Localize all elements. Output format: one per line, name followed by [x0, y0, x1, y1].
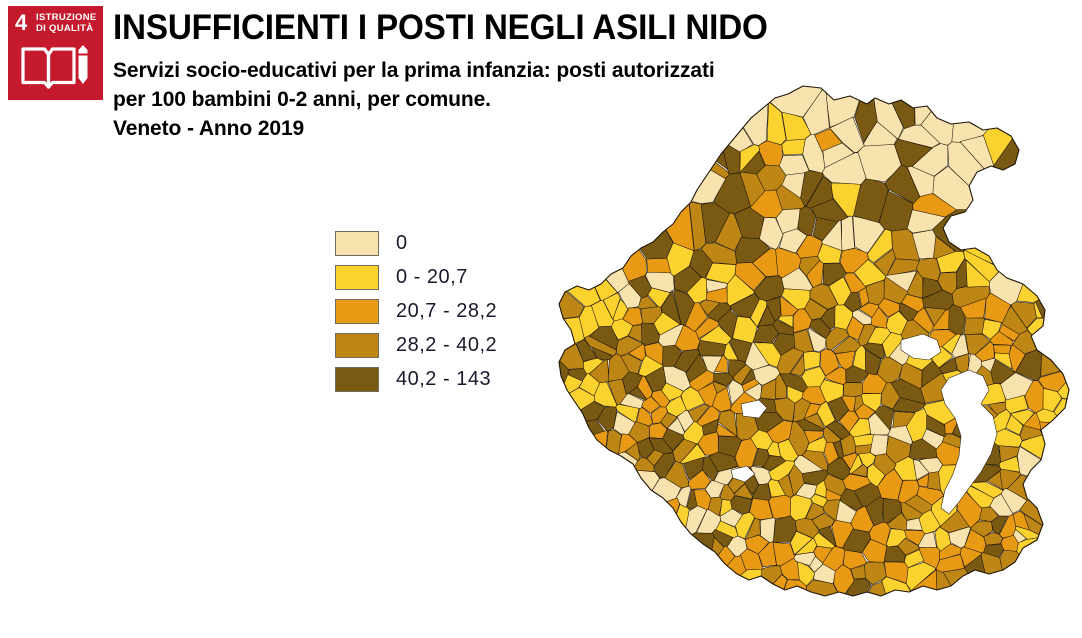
comune-polygon	[633, 78, 753, 152]
legend-item: 0 - 20,7	[335, 260, 497, 294]
comune-polygon	[545, 238, 584, 325]
open-book-and-pencil-icon	[19, 40, 93, 94]
legend-item: 20,7 - 28,2	[335, 294, 497, 328]
sdg-goal-number: 4	[15, 12, 27, 34]
comune-polygon	[1016, 123, 1082, 303]
legend-swatch	[335, 299, 379, 324]
comune-polygon	[688, 78, 768, 146]
comune-polygon	[545, 419, 605, 465]
legend-swatch	[335, 367, 379, 392]
veneto-choropleth-map	[545, 78, 1082, 638]
comune-polygon	[545, 129, 600, 307]
comune-polygon	[942, 568, 1025, 638]
sdg-goal-4-logo: 4 ISTRUZIONE DI QUALITÀ	[8, 6, 103, 100]
comune-polygon	[545, 431, 608, 602]
comune-polygon	[1041, 324, 1082, 377]
comune-polygon	[952, 78, 1064, 143]
legend-item: 0	[335, 226, 497, 260]
comune-polygon	[679, 556, 747, 626]
comune-polygon	[689, 546, 736, 610]
legend-label: 0	[396, 232, 408, 255]
comune-polygon	[1054, 399, 1082, 484]
map-legend: 0 0 - 20,7 20,7 - 28,2 28,2 - 40,2 40,2 …	[335, 226, 497, 396]
legend-label: 20,7 - 28,2	[396, 300, 497, 323]
comune-polygon	[993, 345, 1010, 354]
comune-polygon	[552, 78, 728, 170]
comune-polygon	[753, 580, 807, 638]
legend-swatch	[335, 231, 379, 256]
comune-polygon	[565, 145, 646, 282]
comune-polygon	[964, 78, 1082, 268]
page-title: INSUFFICIENTI I POSTI NEGLI ASILI NIDO	[113, 8, 873, 48]
comune-polygon	[545, 78, 629, 293]
comune-polygon	[1017, 537, 1082, 638]
map-svg	[545, 78, 1082, 638]
comune-polygon	[844, 383, 863, 397]
comune-polygon	[913, 78, 970, 125]
comune-polygon	[983, 78, 1082, 166]
comune-polygon	[1000, 550, 1082, 638]
legend-item: 28,2 - 40,2	[335, 328, 497, 362]
legend-label: 0 - 20,7	[396, 266, 468, 289]
comune-polygon	[936, 569, 1006, 638]
comune-polygon	[545, 533, 715, 638]
comune-polygon	[928, 472, 941, 491]
comune-polygon	[636, 569, 763, 638]
comune-polygon	[545, 470, 660, 634]
comune-polygon	[545, 498, 680, 638]
comune-polygon	[781, 139, 806, 155]
comune-polygon	[964, 317, 985, 335]
legend-item: 40,2 - 143	[335, 362, 497, 396]
comune-polygon	[545, 78, 726, 204]
legend-swatch	[335, 333, 379, 358]
comune-polygon	[545, 78, 729, 179]
comune-polygon	[545, 78, 673, 259]
legend-label: 28,2 - 40,2	[396, 334, 497, 357]
comune-polygon	[750, 575, 787, 638]
legend-swatch	[335, 265, 379, 290]
legend-label: 40,2 - 143	[396, 368, 491, 391]
sdg-goal-title: ISTRUZIONE DI QUALITÀ	[36, 12, 98, 34]
comune-polygon	[842, 216, 855, 251]
